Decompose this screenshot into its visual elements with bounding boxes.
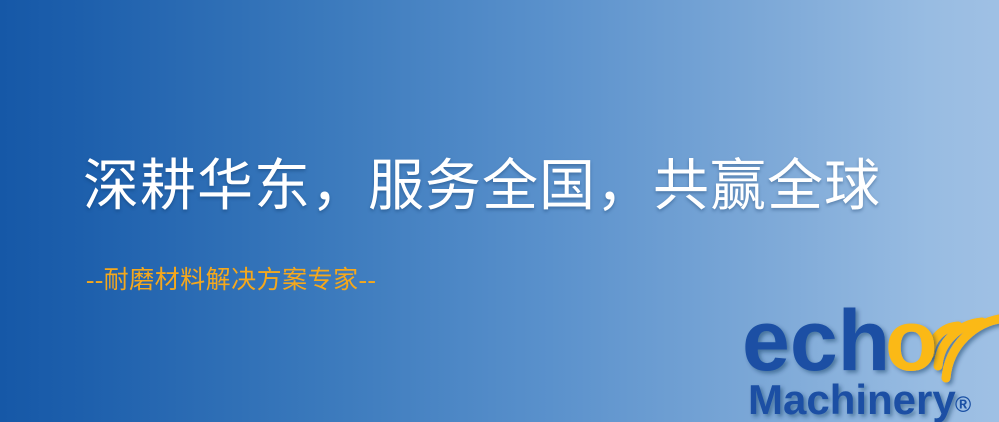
page-subtitle: --耐磨材料解决方案专家--	[86, 264, 376, 298]
logo-text-o: o	[885, 293, 938, 389]
logo-registered-trademark: ®	[955, 392, 971, 417]
logo-text-machinery: Machinery	[748, 376, 956, 422]
page-title: 深耕华东，服务全国，共赢全球	[83, 152, 881, 222]
signal-wave-icon	[930, 318, 999, 378]
echo-machinery-logo[interactable]: ech o Machinery ®	[742, 292, 999, 422]
logo-text-ech: ech	[742, 293, 890, 389]
hero-banner: 深耕华东，服务全国，共赢全球 --耐磨材料解决方案专家-- ech o Mach…	[0, 0, 999, 422]
